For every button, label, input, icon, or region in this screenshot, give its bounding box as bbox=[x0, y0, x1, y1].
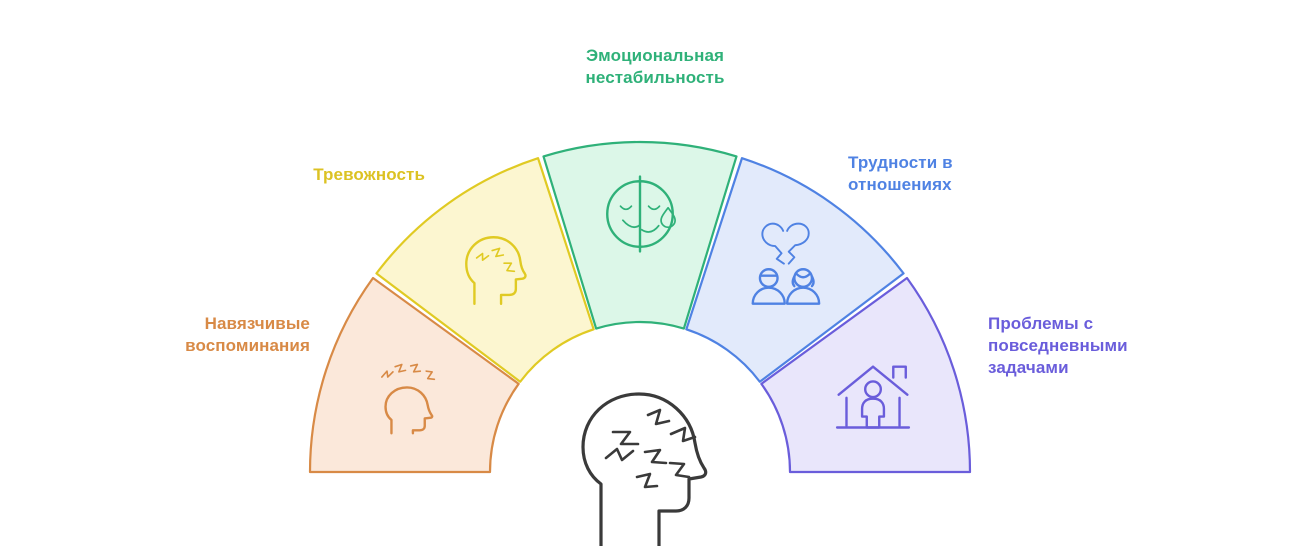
segment-label-emotional-instability: Эмоциональная нестабильность bbox=[545, 45, 765, 89]
segment-label-relationship-difficulties: Трудности в отношениях bbox=[848, 152, 1068, 196]
head-with-chaotic-thoughts-icon bbox=[583, 394, 706, 546]
segment-label-intrusive-memories: Навязчивые воспоминания bbox=[120, 313, 310, 357]
segment-label-daily-task-problems: Проблемы с повседневными задачами bbox=[988, 313, 1218, 379]
segment-label-anxiety: Тревожность bbox=[185, 164, 425, 186]
infographic-canvas: Навязчивые воспоминания Тревожность Эмоц… bbox=[0, 0, 1300, 546]
